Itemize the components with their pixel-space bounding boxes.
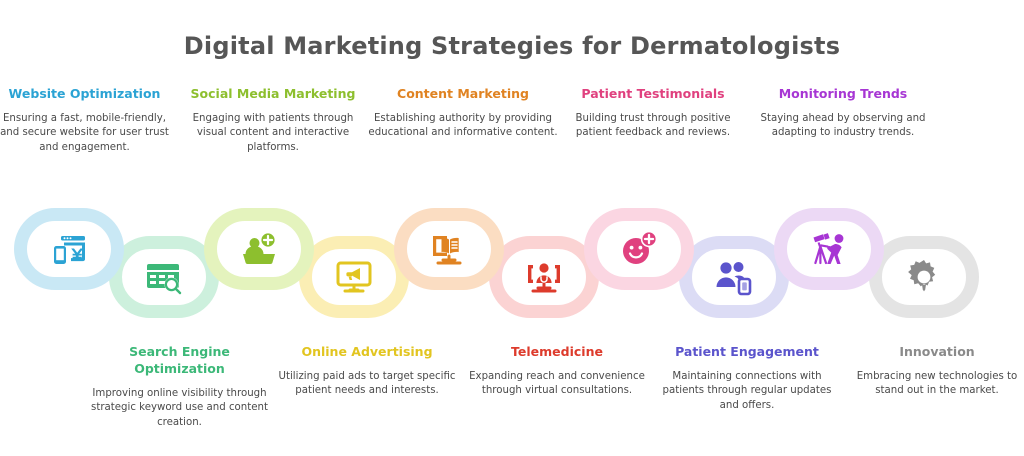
responsive-browser-icon (40, 220, 98, 278)
step-title-1: Website Optimization (0, 86, 177, 103)
step-title-2: Search Engine Optimization (82, 344, 277, 378)
step-text-block-5: Content MarketingEstablishing authority … (368, 86, 558, 141)
step-description-1: Ensuring a fast, mobile-friendly, and se… (0, 112, 177, 155)
add-people-icon (230, 220, 288, 278)
step-title-10: Innovation (842, 344, 1024, 361)
step-text-block-3: Social Media MarketingEngaging with pati… (178, 86, 368, 155)
step-text-block-10: InnovationEmbracing new technologies to … (842, 344, 1024, 399)
step-text-block-2: Search Engine OptimizationImproving onli… (82, 344, 277, 430)
smiley-plus-icon (610, 220, 668, 278)
people-phone-icon (705, 248, 763, 306)
step-description-2: Improving online visibility through stra… (82, 387, 277, 430)
step-title-4: Online Advertising (272, 344, 462, 361)
step-text-block-1: Website OptimizationEnsuring a fast, mob… (0, 86, 177, 155)
step-description-4: Utilizing paid ads to target specific pa… (272, 370, 462, 399)
step-description-9: Staying ahead by observing and adapting … (748, 112, 938, 141)
monitor-megaphone-icon (325, 248, 383, 306)
monitor-book-icon (420, 220, 478, 278)
step-title-5: Content Marketing (368, 86, 558, 103)
step-text-block-6: TelemedicineExpanding reach and convenie… (462, 344, 652, 399)
step-title-6: Telemedicine (462, 344, 652, 361)
page-title: Digital Marketing Strategies for Dermato… (0, 32, 1024, 60)
gear-icon (895, 248, 953, 306)
monitor-doctor-icon (515, 248, 573, 306)
step-description-6: Expanding reach and convenience through … (462, 370, 652, 399)
step-text-block-7: Patient TestimonialsBuilding trust throu… (558, 86, 748, 141)
table-search-icon (135, 248, 193, 306)
telescope-observer-icon (800, 220, 858, 278)
chain-diagram (0, 196, 1024, 326)
step-description-7: Building trust through positive patient … (558, 112, 748, 141)
step-title-8: Patient Engagement (652, 344, 842, 361)
infographic-root: Digital Marketing Strategies for Dermato… (0, 0, 1024, 456)
step-title-7: Patient Testimonials (558, 86, 748, 103)
step-description-10: Embracing new technologies to stand out … (842, 370, 1024, 399)
step-text-block-9: Monitoring TrendsStaying ahead by observ… (748, 86, 938, 141)
step-text-block-8: Patient EngagementMaintaining connection… (652, 344, 842, 413)
step-description-8: Maintaining connections with patients th… (652, 370, 842, 413)
step-description-5: Establishing authority by providing educ… (368, 112, 558, 141)
step-title-9: Monitoring Trends (748, 86, 938, 103)
step-title-3: Social Media Marketing (178, 86, 368, 103)
step-description-3: Engaging with patients through visual co… (178, 112, 368, 155)
step-text-block-4: Online AdvertisingUtilizing paid ads to … (272, 344, 462, 399)
